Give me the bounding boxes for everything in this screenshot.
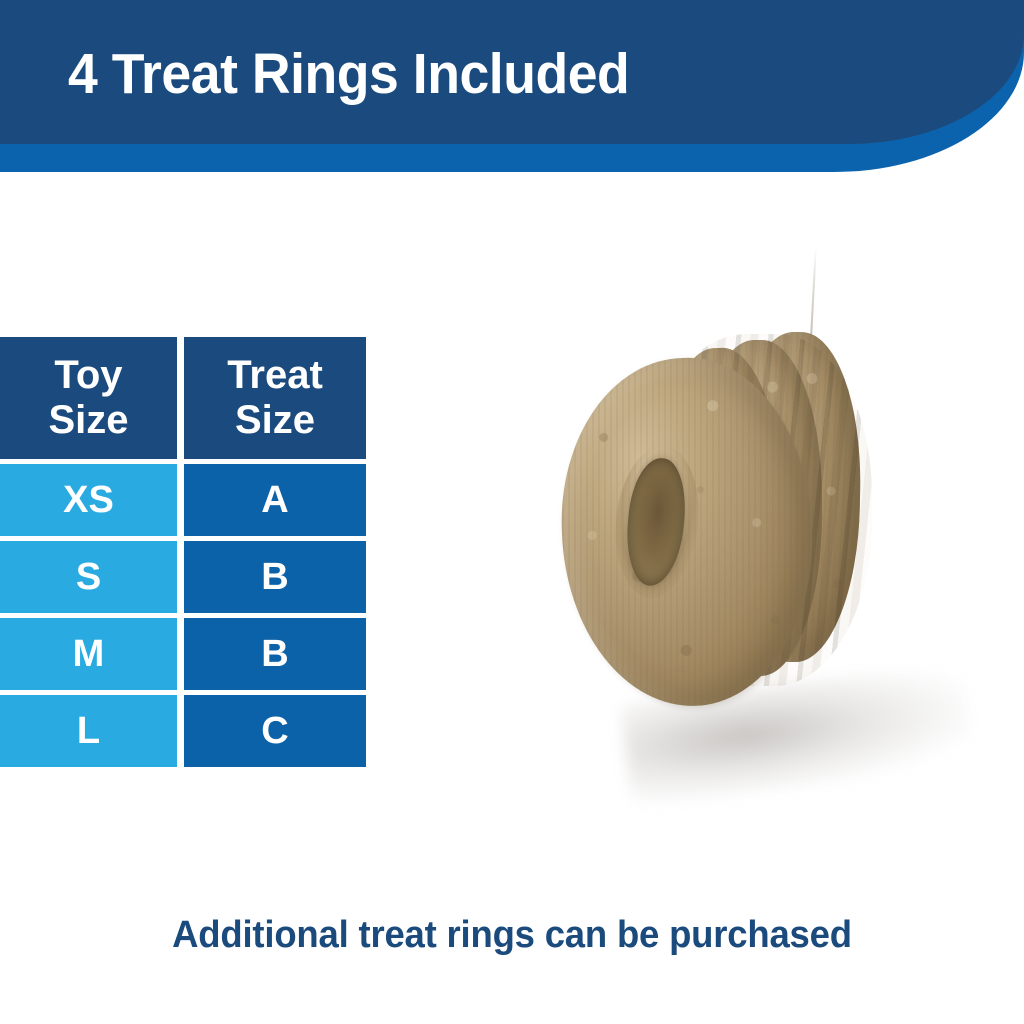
cell-treat-size: C [184, 695, 366, 767]
infographic-page: 4 Treat Rings Included Toy Size Treat Si… [0, 0, 1024, 1024]
treat-ring-stack [520, 230, 980, 790]
header-banner: 4 Treat Rings Included [0, 0, 1024, 178]
column-header-toy-size: Toy Size [0, 337, 177, 459]
table-row: L C [0, 695, 366, 767]
table-row: S B [0, 541, 366, 613]
page-title: 4 Treat Rings Included [68, 40, 629, 108]
cell-toy-size: XS [0, 464, 177, 536]
table-row: XS A [0, 464, 366, 536]
column-header-treat-size-line1: Treat [227, 353, 323, 398]
cell-toy-size: L [0, 695, 177, 767]
cell-treat-size: B [184, 618, 366, 690]
table-row: M B [0, 618, 366, 690]
table-header-row: Toy Size Treat Size [0, 337, 366, 459]
column-header-treat-size: Treat Size [184, 337, 366, 459]
column-header-toy-size-line2: Size [48, 398, 128, 443]
footer-note: Additional treat rings can be purchased [20, 914, 1003, 957]
column-header-toy-size-line1: Toy [48, 353, 128, 398]
cell-treat-size: A [184, 464, 366, 536]
banner-main-layer: 4 Treat Rings Included [0, 0, 1024, 144]
column-header-treat-size-line2: Size [227, 398, 323, 443]
cell-toy-size: M [0, 618, 177, 690]
toy-treat-size-table: Toy Size Treat Size XS A S B M B L [0, 337, 366, 767]
cell-treat-size: B [184, 541, 366, 613]
cell-toy-size: S [0, 541, 177, 613]
treat-ring-stack-photo [520, 230, 980, 810]
